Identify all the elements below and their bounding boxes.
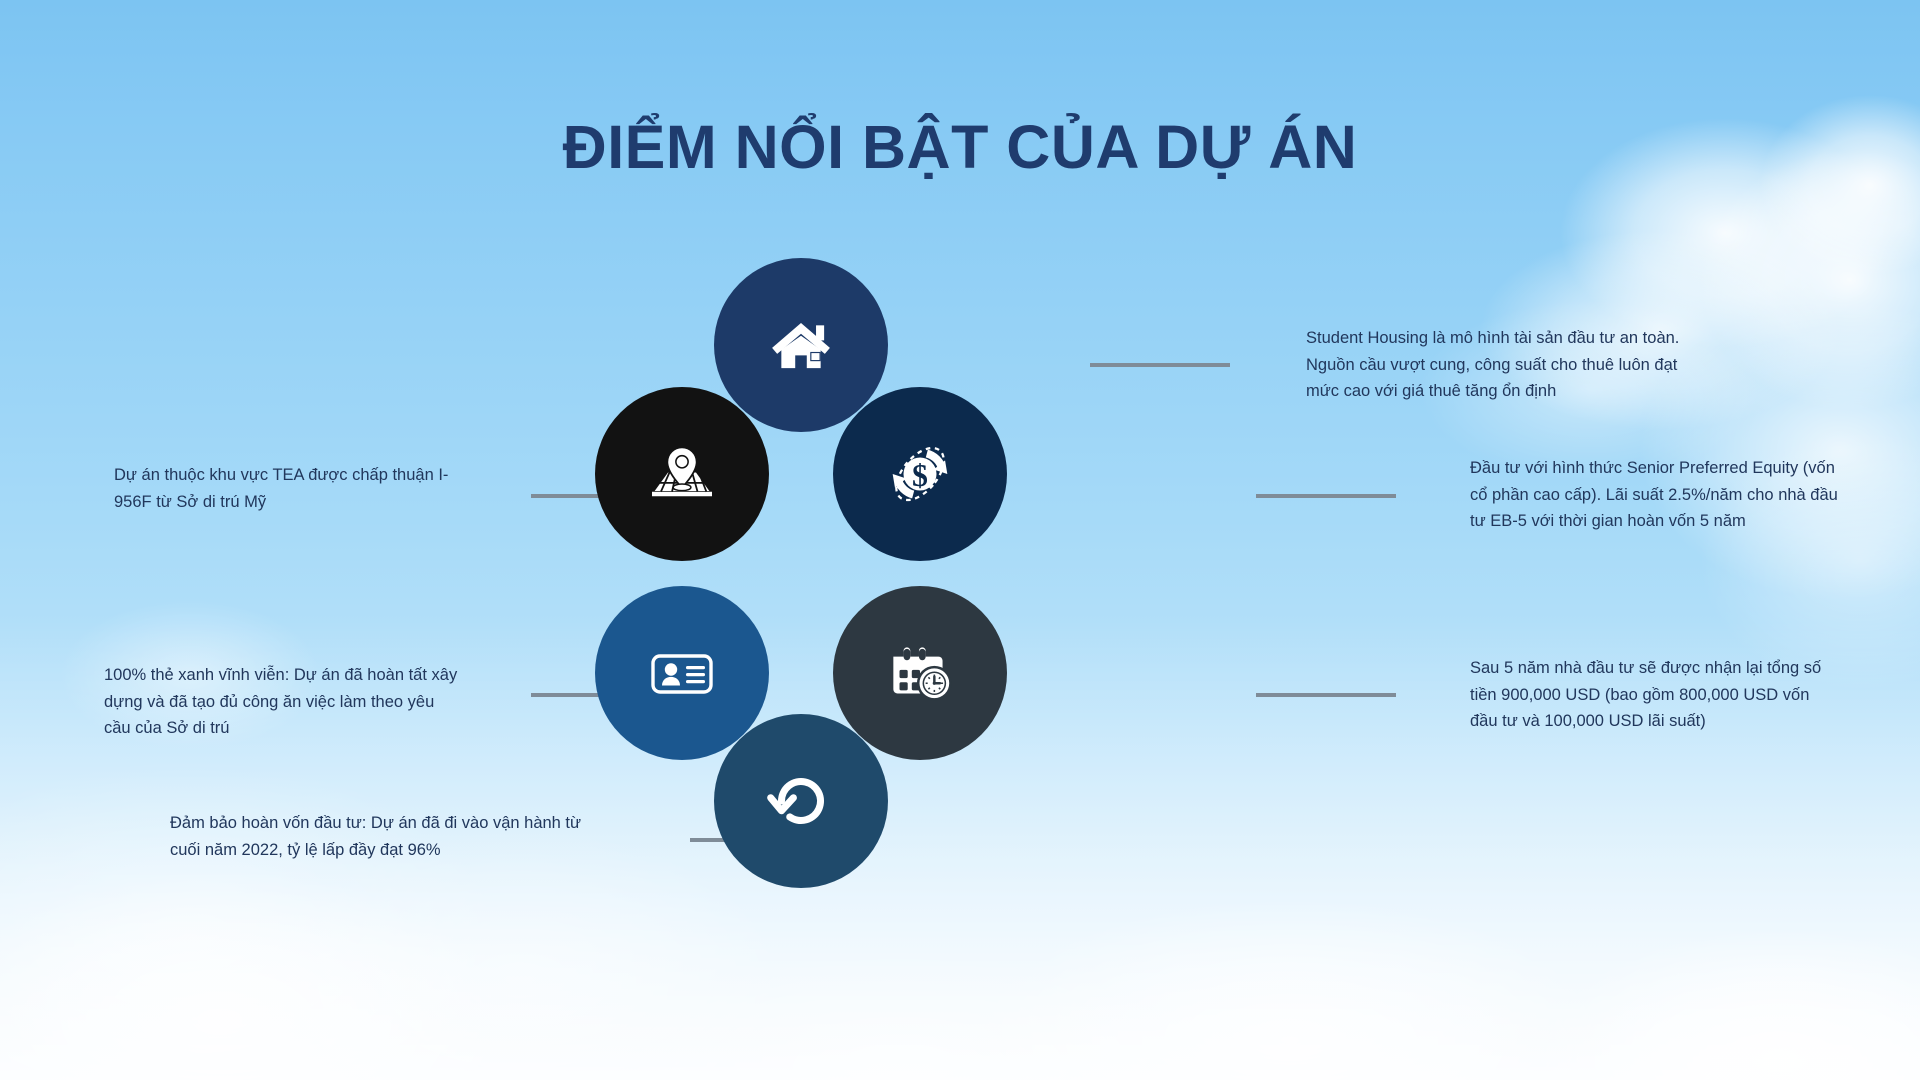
house-icon — [764, 308, 838, 382]
icon-cluster: $ — [696, 258, 1056, 898]
highlight-text-money: Đầu tư với hình thức Senior Preferred Eq… — [1470, 455, 1850, 535]
calendar-clock-icon — [879, 632, 961, 714]
cloud-decoration — [1540, 930, 1920, 1080]
return-arrow-icon — [762, 762, 840, 840]
highlight-node-return[interactable] — [714, 714, 888, 888]
highlight-text-id-card: 100% thẻ xanh vĩnh viễn: Dự án đã hoàn t… — [104, 662, 464, 742]
cloud-decoration — [980, 900, 1600, 1080]
cloud-decoration — [1700, 150, 1920, 410]
highlight-node-house[interactable] — [714, 258, 888, 432]
highlight-text-calendar: Sau 5 năm nhà đầu tư sẽ được nhận lại tổ… — [1470, 655, 1830, 735]
map-location-icon — [642, 434, 722, 514]
highlight-text-house: Student Housing là mô hình tài sản đầu t… — [1306, 325, 1706, 405]
highlight-text-return: Đảm bảo hoàn vốn đầu tư: Dự án đã đi vào… — [170, 810, 600, 863]
cloud-decoration — [620, 950, 1180, 1080]
connector-line-calendar — [1256, 693, 1396, 697]
highlight-node-money[interactable]: $ — [833, 387, 1007, 561]
highlight-node-map[interactable] — [595, 387, 769, 561]
money-exchange-icon: $ — [879, 433, 961, 515]
cloud-decoration — [0, 760, 500, 1080]
highlight-node-id-card[interactable] — [595, 586, 769, 760]
cloud-decoration — [0, 870, 500, 1080]
highlight-node-calendar[interactable] — [833, 586, 1007, 760]
page-title: ĐIỂM NỔI BẬT CỦA DỰ ÁN — [0, 112, 1920, 182]
connector-line-house — [1090, 363, 1230, 367]
connector-line-money — [1256, 494, 1396, 498]
id-card-icon — [640, 631, 724, 715]
infographic-canvas: ĐIỂM NỔI BẬT CỦA DỰ ÁN — [0, 0, 1920, 1080]
svg-text:$: $ — [912, 458, 928, 493]
highlight-text-map: Dự án thuộc khu vực TEA được chấp thuận … — [114, 462, 454, 515]
